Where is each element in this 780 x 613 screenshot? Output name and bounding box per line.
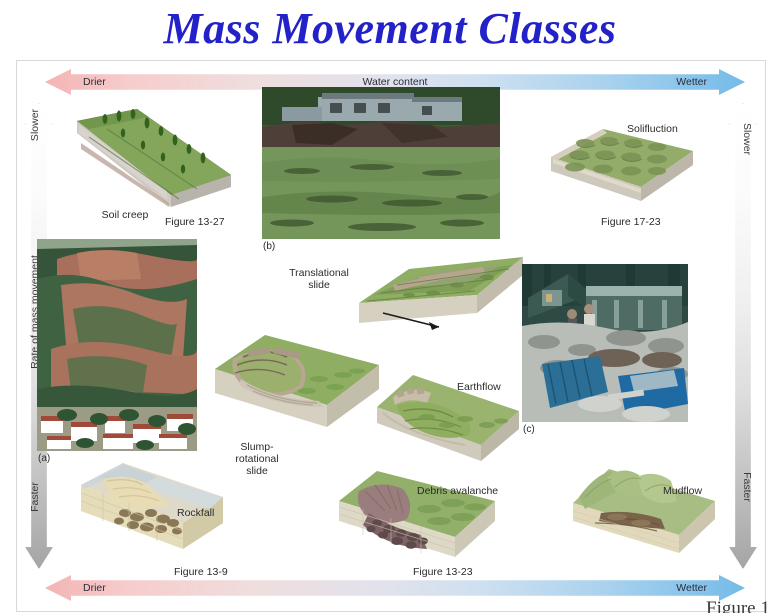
diagram-label-rockfall: Rockfall — [177, 507, 247, 519]
page-title: Mass Movement Classes — [0, 2, 780, 56]
axis-label-faster-right: Faster — [741, 463, 753, 511]
axis-label-slower-left: Slower — [29, 101, 41, 149]
diagram-label-solifluction: Solifluction — [627, 123, 707, 135]
figure-panel: Drier Water content Wetter Drier Wetter … — [16, 60, 766, 612]
figure-number-debris-avalanche: Figure 13-23 — [413, 566, 473, 578]
diagram-label-translational-slide: Translational slide — [279, 267, 359, 291]
photo-tag-b: (b) — [263, 241, 275, 252]
axis-label-drier-bottom: Drier — [83, 575, 106, 601]
diagram-soil-creep — [59, 103, 239, 213]
diagram-label-soil-creep: Soil creep — [85, 209, 165, 221]
axis-label-slower-right: Slower — [741, 115, 753, 163]
diagram-debris-avalanche — [329, 457, 505, 569]
diagram-slump-rotational-slide — [207, 313, 387, 443]
axis-label-faster-left: Faster — [29, 473, 41, 521]
figure-number-rockfall: Figure 13-9 — [174, 566, 228, 578]
axis-label-wetter-bottom: Wetter — [676, 575, 707, 601]
diagram-mudflow — [565, 457, 725, 565]
photo-c — [522, 264, 688, 422]
diagram-rockfall — [73, 451, 233, 561]
photo-b — [262, 87, 500, 239]
photo-tag-c: (c) — [523, 424, 535, 435]
water-content-axis-bottom: Drier Wetter — [45, 575, 745, 601]
figure-number-solifluction: Figure 17-23 — [601, 216, 661, 228]
diagram-earthflow — [369, 363, 529, 471]
diagram-label-earthflow: Earthflow — [457, 381, 527, 393]
axis-label-wetter-top: Wetter — [676, 69, 707, 95]
photo-tag-a: (a) — [38, 453, 50, 464]
diagram-label-mudflow: Mudflow — [663, 485, 733, 497]
diagram-label-debris-avalanche: Debris avalanche — [417, 485, 527, 497]
photo-a — [37, 239, 197, 451]
figure-number-soil-creep: Figure 13-27 — [165, 216, 225, 228]
footer-partial-figure-text: Figure 1 — [706, 598, 770, 613]
